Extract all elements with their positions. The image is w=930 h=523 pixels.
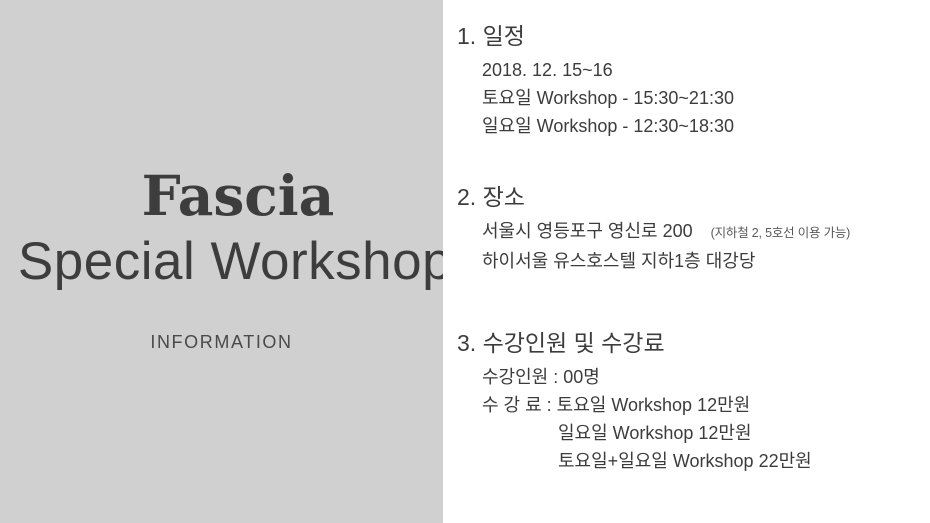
fees-sunday: 일요일 Workshop 12만원 — [482, 419, 930, 447]
location-transit-note: (지하철 2, 5호선 이용 가능) — [693, 226, 851, 240]
section-location: 2. 장소 서울시 영등포구 영신로 200(지하철 2, 5호선 이용 가능)… — [443, 183, 930, 275]
fees-saturday: 수 강 료 : 토요일 Workshop 12만원 — [482, 391, 930, 419]
section-schedule-heading: 1. 일정 — [443, 22, 930, 51]
fees-both-days: 토요일+일요일 Workshop 22만원 — [482, 447, 930, 475]
content-panel: 1. 일정 2018. 12. 15~16 토요일 Workshop - 15:… — [443, 0, 930, 523]
section-location-body: 서울시 영등포구 영신로 200(지하철 2, 5호선 이용 가능) 하이서울 … — [443, 217, 930, 275]
section-schedule-body: 2018. 12. 15~16 토요일 Workshop - 15:30~21:… — [443, 56, 930, 140]
location-venue: 하이서울 유스호스텔 지하1층 대강당 — [482, 247, 930, 275]
section-fees-heading: 3. 수강인원 및 수강료 — [443, 329, 930, 358]
schedule-sunday: 일요일 Workshop - 12:30~18:30 — [482, 112, 930, 140]
schedule-saturday: 토요일 Workshop - 15:30~21:30 — [482, 84, 930, 112]
schedule-date: 2018. 12. 15~16 — [482, 56, 930, 84]
information-slide: Fascia Special Workshop INFORMATION 1. 일… — [0, 0, 930, 523]
location-address: 서울시 영등포구 영신로 200 — [482, 221, 693, 241]
section-fees-body: 수강인원 : 00명 수 강 료 : 토요일 Workshop 12만원 일요일… — [443, 363, 930, 475]
brand-block: Fascia Special Workshop — [0, 168, 470, 291]
brand-subtitle: Special Workshop — [0, 232, 470, 291]
location-address-line: 서울시 영등포구 영신로 200(지하철 2, 5호선 이용 가능) — [482, 217, 930, 247]
section-location-heading: 2. 장소 — [443, 183, 930, 212]
brand-caption: INFORMATION — [0, 332, 443, 353]
brand-title: Fascia — [0, 168, 470, 224]
fees-capacity: 수강인원 : 00명 — [482, 363, 930, 391]
section-fees: 3. 수강인원 및 수강료 수강인원 : 00명 수 강 료 : 토요일 Wor… — [443, 329, 930, 475]
section-schedule: 1. 일정 2018. 12. 15~16 토요일 Workshop - 15:… — [443, 22, 930, 140]
